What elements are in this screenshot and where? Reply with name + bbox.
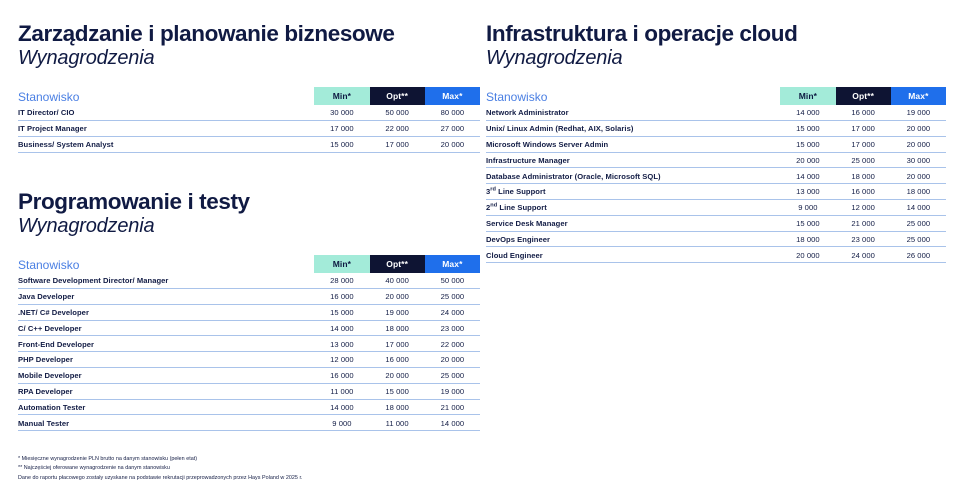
cell-max: 20 000 [425,136,480,152]
cell-max: 18 000 [891,184,946,200]
table-row: Unix/ Linux Admin (Redhat, AIX, Solaris)… [486,121,946,137]
cell-opt: 20 000 [370,289,425,305]
column-header-min: Min* [780,87,835,105]
cell-min: 9 000 [314,415,369,431]
table-header-row: Stanowisko Min* Opt** Max* [486,87,946,105]
table-body: Network Administrator14 00016 00019 000U… [486,105,946,262]
section-subtitle: Wynagrodzenia [18,47,480,69]
cell-max: 23 000 [425,320,480,336]
cell-position: Network Administrator [486,105,780,120]
cell-max: 20 000 [891,136,946,152]
section-title: Zarządzanie i planowanie biznesowe [18,22,480,46]
cell-position: IT Director/ CIO [18,105,314,120]
column-header-position: Stanowisko [486,87,780,105]
cell-min: 15 000 [780,121,835,137]
footnote-min: * Miesięczne wynagrodzenie PLN brutto na… [18,455,488,463]
cell-opt: 25 000 [836,152,891,168]
cell-opt: 17 000 [370,136,425,152]
cell-opt: 12 000 [836,199,891,215]
cell-min: 14 000 [314,320,369,336]
table-row: Service Desk Manager15 00021 00025 000 [486,215,946,231]
cell-min: 14 000 [780,168,835,184]
table-header: Stanowisko Min* Opt** Max* [486,87,946,105]
table-row: IT Director/ CIO30 00050 00080 000 [18,105,480,120]
column-header-max: Max* [425,87,480,105]
table-row: Business/ System Analyst15 00017 00020 0… [18,136,480,152]
cell-max: 14 000 [425,415,480,431]
cell-max: 25 000 [425,367,480,383]
table-row: Software Development Director/ Manager28… [18,273,480,288]
table-row: Network Administrator14 00016 00019 000 [486,105,946,120]
cell-max: 19 000 [425,383,480,399]
cell-min: 20 000 [780,152,835,168]
cell-opt: 22 000 [370,121,425,137]
section-infrastruktura: Infrastruktura i operacje cloud Wynagrod… [486,22,946,263]
cell-max: 22 000 [425,336,480,352]
cell-min: 16 000 [314,367,369,383]
table-row: 2nd Line Support9 00012 00014 000 [486,199,946,215]
cell-max: 30 000 [891,152,946,168]
cell-opt: 40 000 [370,273,425,288]
cell-max: 20 000 [891,168,946,184]
table-body: Software Development Director/ Manager28… [18,273,480,430]
cell-min: 9 000 [780,199,835,215]
cell-position: 2nd Line Support [486,199,780,215]
cell-min: 15 000 [780,136,835,152]
cell-opt: 17 000 [836,136,891,152]
cell-max: 26 000 [891,247,946,263]
cell-max: 21 000 [425,399,480,415]
cell-opt: 19 000 [370,304,425,320]
column-header-min: Min* [314,87,369,105]
cell-max: 80 000 [425,105,480,120]
table-row: Mobile Developer16 00020 00025 000 [18,367,480,383]
salary-table-zarzadzanie: Stanowisko Min* Opt** Max* IT Director/ … [18,87,480,152]
column-header-opt: Opt** [370,255,425,273]
cell-position: Automation Tester [18,399,314,415]
cell-max: 19 000 [891,105,946,120]
cell-min: 13 000 [780,184,835,200]
column-header-min: Min* [314,255,369,273]
section-programowanie: Programowanie i testy Wynagrodzenia Stan… [18,190,480,431]
cell-min: 16 000 [314,289,369,305]
cell-opt: 18 000 [370,320,425,336]
cell-opt: 21 000 [836,215,891,231]
cell-min: 13 000 [314,336,369,352]
ordinal-superscript: rd [490,187,496,193]
table-header-row: Stanowisko Min* Opt** Max* [18,255,480,273]
cell-position: RPA Developer [18,383,314,399]
table-row: Manual Tester9 00011 00014 000 [18,415,480,431]
cell-position: Manual Tester [18,415,314,431]
cell-min: 14 000 [780,105,835,120]
table-row: IT Project Manager17 00022 00027 000 [18,121,480,137]
cell-max: 27 000 [425,121,480,137]
cell-min: 14 000 [314,399,369,415]
cell-opt: 16 000 [370,352,425,368]
cell-position: .NET/ C# Developer [18,304,314,320]
cell-position: 3rd Line Support [486,184,780,200]
table-row: Front-End Developer13 00017 00022 000 [18,336,480,352]
cell-min: 28 000 [314,273,369,288]
cell-min: 12 000 [314,352,369,368]
cell-opt: 24 000 [836,247,891,263]
cell-position: Database Administrator (Oracle, Microsof… [486,168,780,184]
column-header-position: Stanowisko [18,87,314,105]
cell-max: 25 000 [891,231,946,247]
table-row: Database Administrator (Oracle, Microsof… [486,168,946,184]
cell-position: PHP Developer [18,352,314,368]
cell-position: Front-End Developer [18,336,314,352]
cell-position: C/ C++ Developer [18,320,314,336]
table-row: DevOps Engineer18 00023 00025 000 [486,231,946,247]
cell-min: 15 000 [780,215,835,231]
cell-opt: 23 000 [836,231,891,247]
cell-min: 18 000 [780,231,835,247]
section-title: Infrastruktura i operacje cloud [486,22,946,46]
cell-position: Unix/ Linux Admin (Redhat, AIX, Solaris) [486,121,780,137]
cell-opt: 18 000 [370,399,425,415]
table-header: Stanowisko Min* Opt** Max* [18,87,480,105]
cell-max: 50 000 [425,273,480,288]
table-row: Java Developer16 00020 00025 000 [18,289,480,305]
section-subtitle: Wynagrodzenia [18,215,480,237]
table-row: 3rd Line Support13 00016 00018 000 [486,184,946,200]
cell-max: 25 000 [425,289,480,305]
ordinal-superscript: nd [490,203,497,209]
cell-position: Software Development Director/ Manager [18,273,314,288]
cell-position: Business/ System Analyst [18,136,314,152]
cell-position: Mobile Developer [18,367,314,383]
cell-opt: 17 000 [836,121,891,137]
cell-min: 30 000 [314,105,369,120]
column-header-opt: Opt** [836,87,891,105]
column-header-max: Max* [891,87,946,105]
cell-opt: 16 000 [836,184,891,200]
column-header-max: Max* [425,255,480,273]
cell-min: 17 000 [314,121,369,137]
table-body: IT Director/ CIO30 00050 00080 000IT Pro… [18,105,480,152]
table-row: Automation Tester14 00018 00021 000 [18,399,480,415]
cell-position: Java Developer [18,289,314,305]
table-row: Cloud Engineer20 00024 00026 000 [486,247,946,263]
section-title: Programowanie i testy [18,190,480,214]
cell-position: Service Desk Manager [486,215,780,231]
cell-opt: 15 000 [370,383,425,399]
cell-position: Infrastructure Manager [486,152,780,168]
cell-opt: 16 000 [836,105,891,120]
cell-opt: 50 000 [370,105,425,120]
cell-position: Microsoft Windows Server Admin [486,136,780,152]
cell-position: IT Project Manager [18,121,314,137]
cell-min: 15 000 [314,304,369,320]
cell-opt: 11 000 [370,415,425,431]
footnotes: * Miesięczne wynagrodzenie PLN brutto na… [18,455,488,483]
cell-min: 11 000 [314,383,369,399]
table-row: Microsoft Windows Server Admin15 00017 0… [486,136,946,152]
salary-table-programowanie: Stanowisko Min* Opt** Max* Software Deve… [18,255,480,431]
table-header: Stanowisko Min* Opt** Max* [18,255,480,273]
cell-min: 20 000 [780,247,835,263]
table-header-row: Stanowisko Min* Opt** Max* [18,87,480,105]
cell-min: 15 000 [314,136,369,152]
section-subtitle: Wynagrodzenia [486,47,946,69]
cell-max: 14 000 [891,199,946,215]
table-row: C/ C++ Developer14 00018 00023 000 [18,320,480,336]
salary-report-page: Zarządzanie i planowanie biznesowe Wynag… [0,0,960,502]
cell-opt: 20 000 [370,367,425,383]
table-row: PHP Developer12 00016 00020 000 [18,352,480,368]
section-zarzadzanie: Zarządzanie i planowanie biznesowe Wynag… [18,22,480,153]
table-row: Infrastructure Manager20 00025 00030 000 [486,152,946,168]
cell-max: 20 000 [425,352,480,368]
salary-table-infrastruktura: Stanowisko Min* Opt** Max* Network Admin… [486,87,946,263]
footnote-source: Dane do raportu płacowego zostały uzyska… [18,474,488,482]
table-row: .NET/ C# Developer15 00019 00024 000 [18,304,480,320]
footnote-opt: ** Najczęściej oferowane wynagrodzenie n… [18,464,488,472]
cell-opt: 17 000 [370,336,425,352]
cell-position: Cloud Engineer [486,247,780,263]
cell-max: 24 000 [425,304,480,320]
column-header-position: Stanowisko [18,255,314,273]
table-row: RPA Developer11 00015 00019 000 [18,383,480,399]
cell-position: DevOps Engineer [486,231,780,247]
cell-max: 25 000 [891,215,946,231]
column-header-opt: Opt** [370,87,425,105]
cell-opt: 18 000 [836,168,891,184]
cell-max: 20 000 [891,121,946,137]
